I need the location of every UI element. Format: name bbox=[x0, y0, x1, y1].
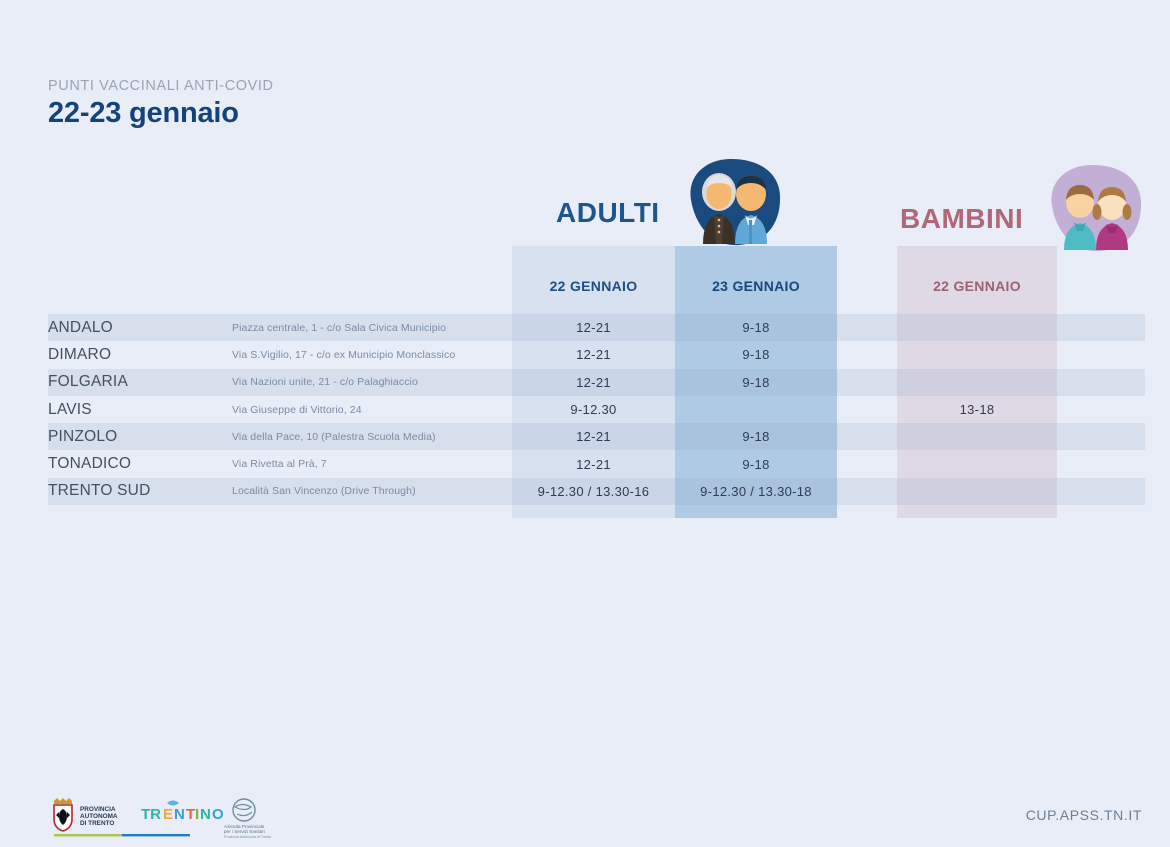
apss-logo: Azienda Provinciale per i Servizi Sanita… bbox=[224, 799, 271, 839]
hours-children-22 bbox=[897, 450, 1057, 477]
table-row: TONADICO Via Rivetta al Prà, 7 12-21 9-1… bbox=[0, 450, 1170, 477]
hours-adults-23: 9-18 bbox=[675, 450, 837, 477]
site-address: Via S.Vigilio, 17 - c/o ex Municipio Mon… bbox=[232, 341, 512, 368]
hours-adults-23: 9-18 bbox=[675, 369, 837, 396]
site-name: ANDALO bbox=[48, 314, 233, 341]
svg-text:Provincia Autonoma di Trento: Provincia Autonoma di Trento bbox=[224, 835, 271, 839]
hours-adults-23: 9-18 bbox=[675, 423, 837, 450]
hours-adults-23 bbox=[675, 396, 837, 423]
site-name: TRENTO SUD bbox=[48, 478, 233, 505]
group-title-adults: ADULTI bbox=[556, 197, 660, 229]
hours-children-22 bbox=[897, 478, 1057, 505]
table-row: FOLGARIA Via Nazioni unite, 21 - c/o Pal… bbox=[0, 369, 1170, 396]
hours-adults-22: 9-12.30 bbox=[512, 396, 675, 423]
hours-adults-23: 9-18 bbox=[675, 314, 837, 341]
svg-text:TR: TR bbox=[141, 806, 161, 823]
table-row: TRENTO SUD Località San Vincenzo (Drive … bbox=[0, 478, 1170, 505]
svg-text:I: I bbox=[195, 806, 199, 823]
trentino-logo: TR E N T I N O bbox=[141, 801, 224, 824]
header-kicker: PUNTI VACCINALI ANTI-COVID bbox=[48, 78, 274, 94]
page-header: PUNTI VACCINALI ANTI-COVID 22-23 gennaio bbox=[48, 78, 274, 130]
hours-children-22 bbox=[897, 369, 1057, 396]
svg-text:per i Servizi Sanitari: per i Servizi Sanitari bbox=[224, 829, 265, 834]
site-name: DIMARO bbox=[48, 341, 233, 368]
svg-text:DI TRENTO: DI TRENTO bbox=[80, 820, 114, 827]
site-address: Via Giuseppe di Vittorio, 24 bbox=[232, 396, 512, 423]
column-header-adults-22: 22 GENNAIO bbox=[512, 246, 675, 314]
table-row: LAVIS Via Giuseppe di Vittorio, 24 9-12.… bbox=[0, 396, 1170, 423]
hours-adults-23: 9-12.30 / 13.30-18 bbox=[675, 478, 837, 505]
svg-text:N: N bbox=[174, 806, 185, 823]
hours-adults-22: 12-21 bbox=[512, 314, 675, 341]
elderly-couple-icon bbox=[681, 156, 787, 248]
svg-text:PROVINCIA: PROVINCIA bbox=[80, 806, 116, 813]
site-name: PINZOLO bbox=[48, 423, 233, 450]
page-title: 22-23 gennaio bbox=[48, 97, 274, 130]
footer-logos: PROVINCIA AUTONOMA DI TRENTO TR E N T I … bbox=[46, 795, 306, 840]
site-address: Via della Pace, 10 (Palestra Scuola Medi… bbox=[232, 423, 512, 450]
svg-text:O: O bbox=[212, 806, 224, 823]
hours-adults-22: 12-21 bbox=[512, 450, 675, 477]
site-name: TONADICO bbox=[48, 450, 233, 477]
hours-adults-22: 12-21 bbox=[512, 423, 675, 450]
site-address: Via Nazioni unite, 21 - c/o Palaghiaccio bbox=[232, 369, 512, 396]
site-address: Via Rivetta al Prà, 7 bbox=[232, 450, 512, 477]
hours-adults-22: 9-12.30 / 13.30-16 bbox=[512, 478, 675, 505]
hours-children-22 bbox=[897, 341, 1057, 368]
column-header-adults-23: 23 GENNAIO bbox=[675, 246, 837, 314]
site-name: FOLGARIA bbox=[48, 369, 233, 396]
website-url: CUP.APSS.TN.IT bbox=[1026, 807, 1142, 823]
site-name: LAVIS bbox=[48, 396, 233, 423]
table-row: PINZOLO Via della Pace, 10 (Palestra Scu… bbox=[0, 423, 1170, 450]
table-row: DIMARO Via S.Vigilio, 17 - c/o ex Munici… bbox=[0, 341, 1170, 368]
vaccination-sites-table: ANDALO Piazza centrale, 1 - c/o Sala Civ… bbox=[0, 314, 1170, 505]
children-couple-icon bbox=[1042, 162, 1148, 254]
site-address: Località San Vincenzo (Drive Through) bbox=[232, 478, 512, 505]
svg-text:N: N bbox=[200, 806, 211, 823]
column-header-children-22: 22 GENNAIO bbox=[897, 246, 1057, 314]
hours-children-22 bbox=[897, 314, 1057, 341]
hours-adults-22: 12-21 bbox=[512, 369, 675, 396]
hours-children-22 bbox=[897, 423, 1057, 450]
site-address: Piazza centrale, 1 - c/o Sala Civica Mun… bbox=[232, 314, 512, 341]
group-title-children: BAMBINI bbox=[900, 203, 1023, 235]
hours-adults-22: 12-21 bbox=[512, 341, 675, 368]
table-row: ANDALO Piazza centrale, 1 - c/o Sala Civ… bbox=[0, 314, 1170, 341]
svg-text:AUTONOMA: AUTONOMA bbox=[80, 813, 118, 820]
hours-children-22: 13-18 bbox=[897, 396, 1057, 423]
svg-text:E: E bbox=[163, 806, 173, 823]
hours-adults-23: 9-18 bbox=[675, 341, 837, 368]
svg-text:T: T bbox=[186, 806, 195, 823]
